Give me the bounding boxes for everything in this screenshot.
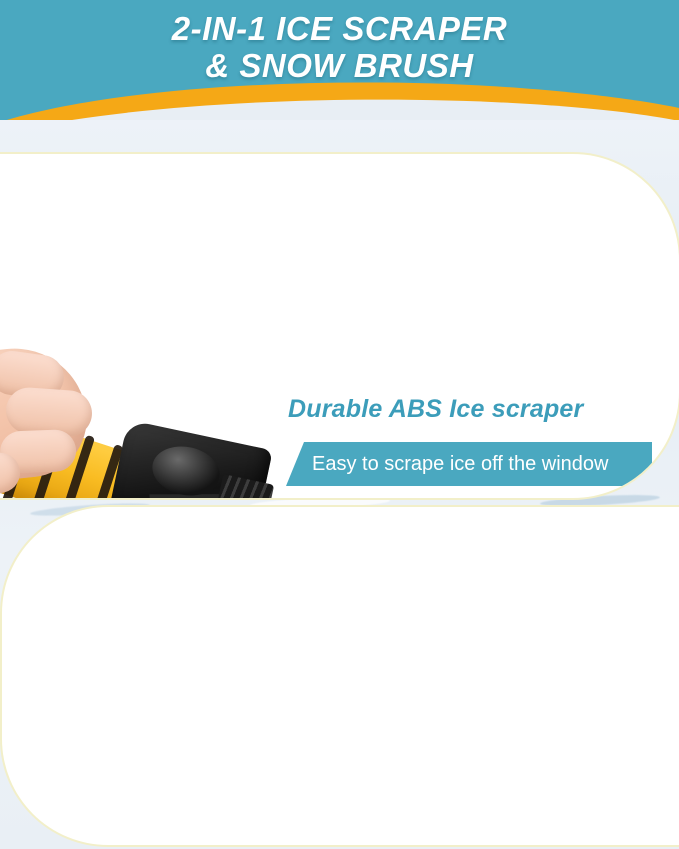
feature-caption-band-scraper: Easy to scrape ice off the window (286, 442, 652, 486)
header-banner: 2-IN-1 ICE SCRAPER & SNOW BRUSH (0, 0, 679, 120)
feature-heading-scraper: Durable ABS Ice scraper (288, 395, 583, 424)
ice-scraper-in-hand-photo (0, 339, 296, 500)
infographic-stage: 2-IN-1 ICE SCRAPER & SNOW BRUSH (0, 0, 679, 849)
page-title: 2-IN-1 ICE SCRAPER & SNOW BRUSH (0, 10, 679, 84)
feature-caption-scraper: Easy to scrape ice off the window (312, 452, 608, 477)
wave-divider (0, 78, 679, 120)
feature-card-scraper: Durable ABS Ice scraper Easy to scrape i… (0, 152, 679, 500)
feature-card-brush: 270° 270° Pivoting Brush Head allowing y… (0, 505, 679, 847)
